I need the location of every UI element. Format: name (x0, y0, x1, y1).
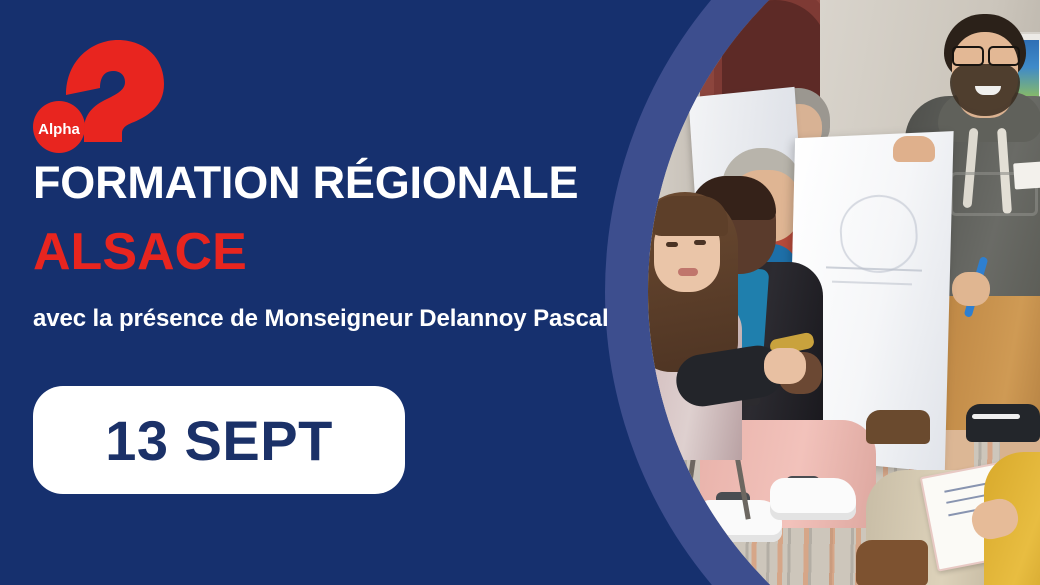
foreground-shoe-brown (866, 410, 930, 444)
foreground-shoe-sneaker (966, 404, 1040, 442)
guest-presence-line: avec la présence de Monseigneur Delannoy… (33, 307, 609, 331)
hand-holding-flipchart (893, 136, 935, 162)
date-badge-label: 13 SEPT (105, 408, 333, 473)
young-woman-eye-left (666, 242, 678, 247)
standing-man-hand (952, 272, 990, 306)
event-banner: Alpha FORMATION RÉGIONALE ALSACE avec la… (0, 0, 1040, 585)
young-woman-fringe (648, 196, 728, 236)
young-woman-hand (764, 348, 806, 384)
alpha-logo: Alpha (30, 32, 170, 157)
name-badge (1013, 160, 1040, 189)
alpha-badge-text: Alpha (38, 121, 80, 138)
eyeglasses-icon (950, 46, 1022, 62)
foreground-person-shoe (856, 540, 928, 585)
young-woman-lips (678, 268, 698, 276)
young-woman-eye-right (694, 240, 706, 245)
date-badge[interactable]: 13 SEPT (33, 386, 405, 494)
banner-content: Alpha FORMATION RÉGIONALE ALSACE avec la… (0, 0, 640, 585)
region-subtitle: ALSACE (33, 226, 247, 278)
white-sneaker-right (770, 478, 856, 520)
page-title: FORMATION RÉGIONALE (33, 160, 578, 205)
